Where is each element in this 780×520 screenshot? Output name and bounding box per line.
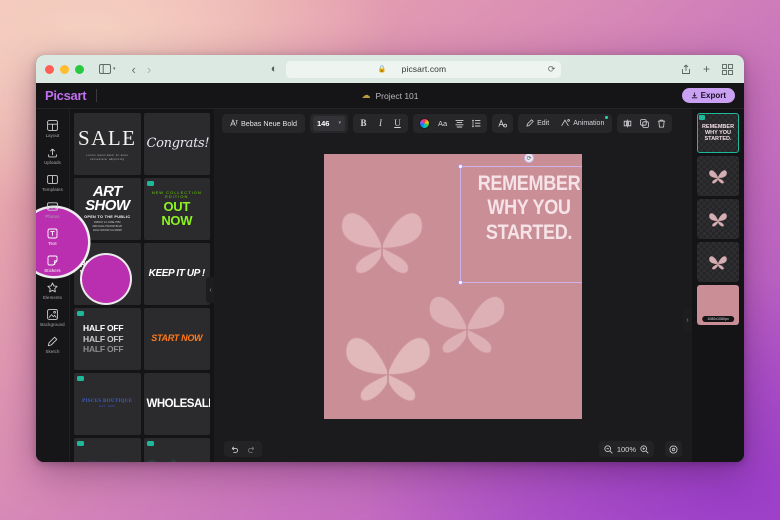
align-center-icon [455,119,464,128]
templates-panel: SALE Lorem ipsum dolor sit amet consecte… [70,109,214,462]
layers-panel: REMEMBER WHY YOU STARTED. [692,109,744,462]
lock-icon: 🔒 [378,65,387,73]
edit-animation-group: Edit Animation [518,114,612,133]
sidebar-item-layout[interactable]: Layout [37,115,69,141]
template-card-congrats[interactable]: Congrats! [144,113,211,175]
browser-toolbar-right: + [681,63,735,75]
text-color-button[interactable] [416,116,433,131]
zoom-out-icon [604,445,613,454]
sidebar-item-uploads[interactable]: Uploads [37,142,69,168]
sidebar-item-label: Layout [46,133,60,138]
color-wheel-icon [419,118,430,129]
effects-group [492,114,513,133]
cloud-saved-icon: ☁ [362,90,371,101]
tool-rail: Layout Uploads Templates Photos [36,109,70,462]
resize-handle-sw[interactable] [458,280,463,285]
nav-arrows[interactable]: ‹ › [132,63,152,76]
collapse-layers-panel-button[interactable]: › [683,307,692,333]
zoom-in-button[interactable] [640,445,649,454]
sidebar-item-label: Sketch [45,349,59,354]
upload-icon [46,146,59,159]
collapse-templates-panel-button[interactable]: ‹ [206,277,214,303]
template-subtitle: Lorem ipsum dolor sit amet consectetur a… [77,154,138,162]
video-badge-icon [77,311,84,316]
browser-titlebar: ▾ ‹ › ◐ 🔒 picsart.com ⟳ + [36,55,744,83]
minimize-window-button[interactable] [60,65,69,74]
sidebar-item-label: Text [48,241,56,246]
sidebar-item-templates[interactable]: Templates [37,169,69,195]
edit-button[interactable]: Edit [521,116,554,131]
duplicate-icon [640,119,649,128]
butterfly-decoration-2 [424,282,510,360]
back-button[interactable]: ‹ [132,63,136,76]
animation-icon [561,119,570,127]
addressbar-area: ◐ 🔒 picsart.com ⟳ [164,61,668,78]
flip-button[interactable] [620,116,635,131]
canvas-area: REMEMBER WHY YOU STARTED. ⟳ › [214,137,692,436]
font-group: Bebas Neue Bold [222,114,305,133]
butterfly-decoration-1 [336,198,428,280]
video-badge-icon [147,181,154,186]
text-icon [46,227,59,240]
font-picker-button[interactable]: Bebas Neue Bold [225,116,302,131]
animation-label: Animation [573,120,604,127]
header-divider [96,89,97,102]
butterfly-thumb-icon [708,253,728,271]
trash-icon [657,119,666,128]
canvas-bottom-bar: 100% [214,436,692,462]
edit-label: Edit [537,120,549,127]
template-card-out-now[interactable]: NEW COLLECTION EDITION OUT NOW [144,178,211,240]
editor-center: Bebas Neue Bold 146 ▾ B I U Aa [214,109,692,462]
template-subtitle: OPEN TO THE PUBLIC [77,215,138,219]
animation-button[interactable]: Animation [556,116,609,131]
download-icon [691,92,698,99]
template-title: START NOW [147,334,208,343]
sidebar-item-text[interactable]: Text [37,223,69,249]
flip-icon [623,119,632,128]
app-body: Layout Uploads Templates Photos [36,109,744,462]
sidebar-item-label: Photos [45,214,59,219]
resize-handle-nw[interactable] [458,164,463,169]
duplicate-button[interactable] [637,116,652,131]
font-picker-icon [230,119,238,127]
close-window-button[interactable] [45,65,54,74]
window-controls[interactable] [45,65,84,74]
fit-to-screen-icon [669,445,678,454]
text-effects-button[interactable] [495,116,510,131]
sidebar-item-label: Stickers [44,268,60,273]
app-header: Picsart ☁ Project 101 Export [36,83,744,109]
tab-overview-icon[interactable] [722,64,733,75]
template-title: SALE [77,127,138,149]
template-subtitle: EST. 1983 [77,406,138,409]
text-style-group: B I U [353,114,408,133]
forward-button[interactable]: › [147,63,151,76]
layer-item-butterfly-2[interactable] [697,199,739,239]
maximize-window-button[interactable] [75,65,84,74]
export-label: Export [701,91,726,100]
fit-to-screen-button[interactable] [665,441,682,457]
sidebar-item-sketch[interactable]: Sketch [37,331,69,357]
templates-icon [46,173,59,186]
sidebar-item-label: Elements [43,295,62,300]
template-card-wholesale[interactable]: WHOLESALE [144,373,211,435]
template-card-script[interactable]: Seahorse [144,438,211,462]
sidebar-item-label: Background [40,322,64,327]
underline-button[interactable]: U [390,116,405,131]
url-field[interactable]: 🔒 picsart.com ⟳ [286,61,561,78]
format-group: Aa [413,114,487,133]
undo-button[interactable] [227,442,242,457]
zoom-out-button[interactable] [604,445,613,454]
url-text: picsart.com [402,64,447,74]
delete-button[interactable] [654,116,669,131]
template-card-sale[interactable]: SALE Lorem ipsum dolor sit amet consecte… [74,113,141,175]
layer-item-background[interactable]: 1080x1080px [697,285,739,325]
selection-box[interactable]: ⟳ [460,166,582,283]
template-title: WHOLESALE [147,398,208,410]
zoom-controls: 100% [599,441,654,457]
video-badge-icon [699,115,705,120]
sidebar-item-elements[interactable]: Elements [37,277,69,303]
line-spacing-icon [472,119,481,128]
sidebar-toggle-icon[interactable]: ▾ [99,64,116,74]
template-card-keep-it-up[interactable]: KEEP IT UP ! [144,243,211,305]
share-icon[interactable] [681,64,691,75]
stickers-icon [46,254,59,267]
font-name-label: Bebas Neue Bold [241,119,297,128]
text-effects-icon [498,119,507,128]
reload-icon[interactable]: ⟳ [548,64,556,75]
video-badge-icon [147,441,154,446]
sidebar-item-stickers[interactable]: Stickers [37,250,69,276]
template-card-pisces[interactable]: PISCES BOUTIQUE EST. 1983 [74,373,141,435]
sidebar-item-background[interactable]: Background [37,304,69,330]
template-card-half-off[interactable]: HALF OFF HALF OFF HALF OFF [74,308,141,370]
letter-case-button[interactable]: Aa [435,116,450,131]
butterfly-thumb-icon [708,210,728,228]
video-badge-icon [77,441,84,446]
template-eyebrow: NEW COLLECTION EDITION [147,191,208,199]
chevron-down-icon[interactable]: ▾ [113,66,116,72]
redo-icon [247,445,256,454]
template-title: HALF OFF HALF OFF HALF OFF [77,323,138,355]
undo-redo-group [224,441,262,457]
butterfly-decoration-3 [340,322,436,408]
video-badge-icon [77,376,84,381]
layout-icon [46,119,59,132]
template-card-start-now[interactable]: START NOW [144,308,211,370]
template-title: Congrats! [147,137,208,151]
photos-icon [46,200,59,213]
template-highlight-circle [82,255,130,303]
align-button[interactable] [452,116,467,131]
rotate-handle-icon[interactable]: ⟳ [524,154,534,163]
template-title: KEEP IT UP ! [147,269,208,280]
browser-window: ▾ ‹ › ◐ 🔒 picsart.com ⟳ + Picsart ☁ Proj… [36,55,744,462]
zoom-level-label: 100% [617,445,636,454]
template-title-2: SHOW [77,199,138,213]
animation-new-badge [605,116,608,119]
font-size-field[interactable]: 146 ▾ [313,116,345,131]
project-name: Project 101 [376,91,419,101]
design-canvas[interactable]: REMEMBER WHY YOU STARTED. ⟳ [324,154,582,419]
layer-thumbnail-text: REMEMBER WHY YOU STARTED. [697,124,739,143]
zoom-in-icon [640,445,649,454]
layer-item-butterfly-3[interactable] [697,242,739,282]
plus-icon[interactable]: + [703,63,710,75]
background-icon [46,308,59,321]
font-size-value: 146 [317,119,330,128]
template-title: OUT NOW [147,200,208,227]
template-card-play[interactable]: PLAY [74,438,141,462]
chevron-down-icon[interactable]: ▾ [338,120,341,126]
picsart-logo[interactable]: Picsart [45,88,86,103]
layer-item-butterfly-1[interactable] [697,156,739,196]
layer-item-text[interactable]: REMEMBER WHY YOU STARTED. [697,113,739,153]
layer-size-label: 1080x1080px [702,316,734,322]
font-size-group: 146 ▾ [310,114,348,133]
bold-button[interactable]: B [356,116,371,131]
template-title: PISCES BOUTIQUE [77,399,138,404]
edit-icon [526,119,534,127]
redo-button[interactable] [244,442,259,457]
line-spacing-button[interactable] [469,116,484,131]
reader-mode-icon[interactable]: ◐ [271,63,278,75]
undo-icon [230,445,239,454]
project-title-chip[interactable]: ☁ Project 101 [362,90,419,101]
sidebar-item-label: Templates [42,187,63,192]
object-actions-group [617,114,672,133]
sidebar-item-photos[interactable]: Photos [37,196,69,222]
text-toolbar: Bebas Neue Bold 146 ▾ B I U Aa [214,109,692,137]
star-icon [46,281,59,294]
sidebar-item-label: Uploads [44,160,61,165]
sketch-icon [46,335,59,348]
butterfly-thumb-icon [708,167,728,185]
export-button[interactable]: Export [682,88,735,103]
italic-button[interactable]: I [373,116,388,131]
